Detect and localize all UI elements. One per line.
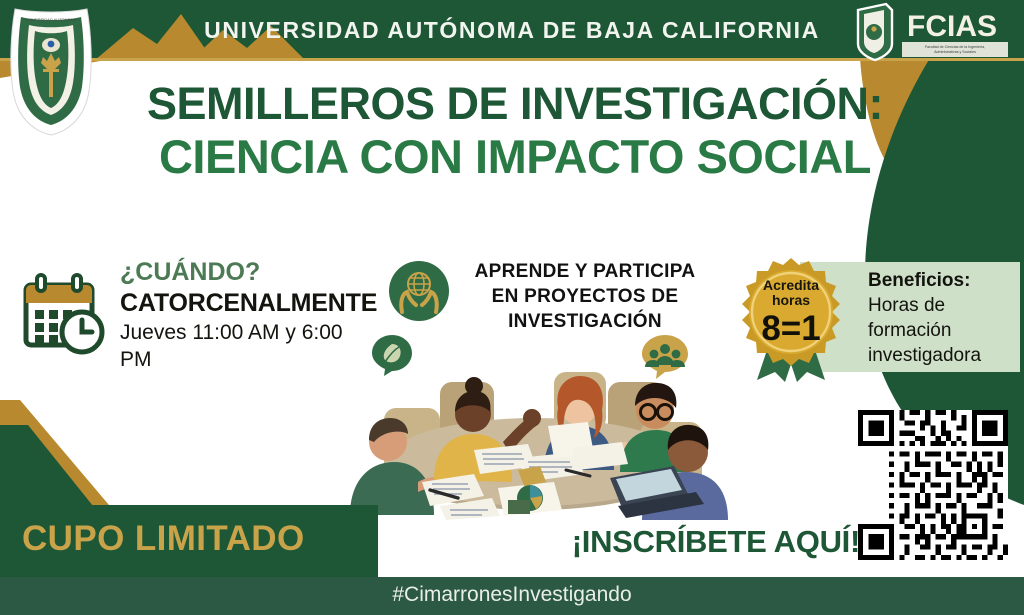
badge-top-line-1: Acredita [763, 277, 819, 293]
benefits-line-1: Horas de [868, 293, 1018, 318]
callout-line-1: APRENDE Y PARTICIPA [460, 259, 710, 284]
title-line-1: SEMILLEROS DE INVESTIGACIÓN: [70, 78, 960, 130]
badge-ratio: 8=1 [761, 309, 820, 348]
benefits-text: Beneficios: Horas de formación investiga… [868, 268, 1018, 368]
when-block: ¿CUÁNDO? CATORCENALMENTE Jueves 11:00 AM… [18, 262, 378, 367]
callout-line-3: INVESTIGACIÓN [460, 309, 710, 334]
svg-text:Administrativas y Sociales: Administrativas y Sociales [934, 50, 976, 54]
benefits-title: Beneficios: [868, 268, 1018, 293]
inscribete-aqui-text: ¡INSCRÍBETE AQUÍ! [470, 524, 860, 560]
callout-text: APRENDE Y PARTICIPA EN PROYECTOS DE INVE… [460, 259, 710, 334]
fcias-logo: FCIAS Facultad de Ciencias de la Ingenie… [852, 2, 1018, 62]
when-frequency: CATORCENALMENTE [120, 287, 378, 319]
uabc-crest-icon: UNIVERSIDAD AUTONOMA [7, 5, 95, 138]
when-question: ¿CUÁNDO? [120, 257, 378, 287]
poster-title: SEMILLEROS DE INVESTIGACIÓN: CIENCIA CON… [70, 78, 960, 184]
people-bubble-icon [640, 333, 690, 383]
hashtag-text: #CimarronesInvestigando [0, 583, 1024, 607]
globe-in-hands-icon [388, 260, 450, 322]
accreditation-badge: Acredita horas 8=1 [735, 256, 847, 382]
calendar-clock-icon [18, 273, 110, 357]
leaf-bubble-icon [370, 333, 414, 377]
when-schedule: Jueves 11:00 AM y 6:00 PM [120, 319, 378, 373]
cupo-limitado-text: CUPO LIMITADO [22, 519, 372, 559]
qr-code[interactable] [858, 410, 1008, 560]
badge-top-line-2: horas [772, 292, 810, 308]
svg-text:Facultad de Ciencias de la Ing: Facultad de Ciencias de la Ingeniería, [925, 45, 985, 49]
poster-root: UNIVERSIDAD AUTÓNOMA DE BAJA CALIFORNIA … [0, 0, 1024, 615]
fcias-wordmark: FCIAS [907, 10, 997, 43]
title-line-2: CIENCIA CON IMPACTO SOCIAL [70, 130, 960, 184]
benefits-line-3: investigadora [868, 343, 1018, 368]
benefits-line-2: formación [868, 318, 1018, 343]
callout-line-2: EN PROYECTOS DE [460, 284, 710, 309]
svg-text:UNIVERSIDAD AUTONOMA: UNIVERSIDAD AUTONOMA [25, 17, 77, 22]
